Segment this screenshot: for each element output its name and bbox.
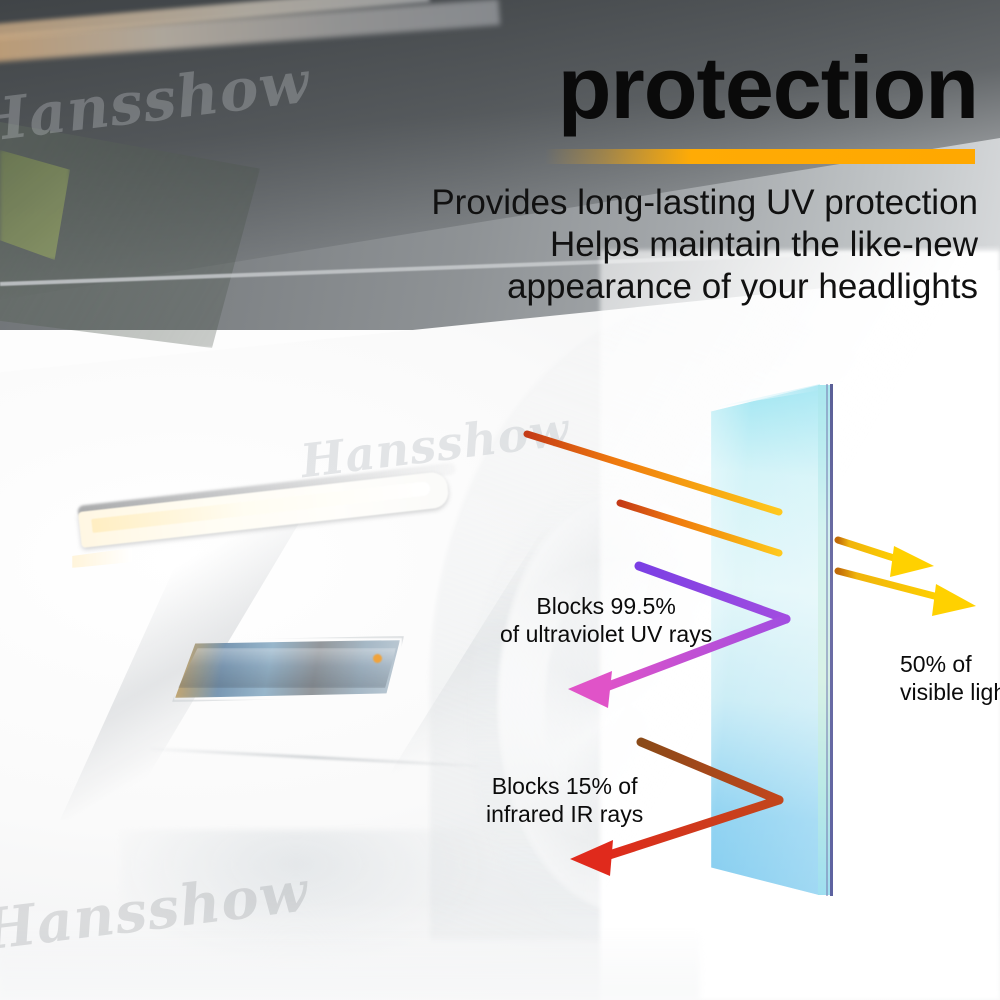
uv-label-line-1: Blocks 99.5% <box>500 592 712 620</box>
promo-image: Hansshow Hansshow Hansshow protection Pr… <box>0 0 1000 1000</box>
ir-label-line-2: infrared IR rays <box>486 800 643 828</box>
film-pane-outer-rule <box>830 384 833 896</box>
ir-label: Blocks 15% of infrared IR rays <box>486 772 643 828</box>
uv-label: Blocks 99.5% of ultraviolet UV rays <box>500 592 712 648</box>
subtitle-line-2: Helps maintain the like-new <box>278 224 978 266</box>
ir-label-line-1: Blocks 15% of <box>486 772 643 800</box>
visible-light-label: 50% of visible light <box>900 650 1000 706</box>
film-pane-inner-rule <box>826 384 828 896</box>
subtitle-line-1: Provides long-lasting UV protection <box>278 182 978 224</box>
subtitle-block: Provides long-lasting UV protection Help… <box>278 182 978 308</box>
page-title: protection <box>558 44 978 132</box>
visible-label-line-1: 50% of <box>900 650 1000 678</box>
film-pane-sheen <box>706 385 819 895</box>
subtitle-line-3: appearance of your headlights <box>278 266 978 308</box>
title-underline-accent <box>545 149 975 164</box>
visible-label-line-2: visible light <box>900 678 1000 706</box>
uv-label-line-2: of ultraviolet UV rays <box>500 620 712 648</box>
fog-light-rim <box>172 636 404 702</box>
